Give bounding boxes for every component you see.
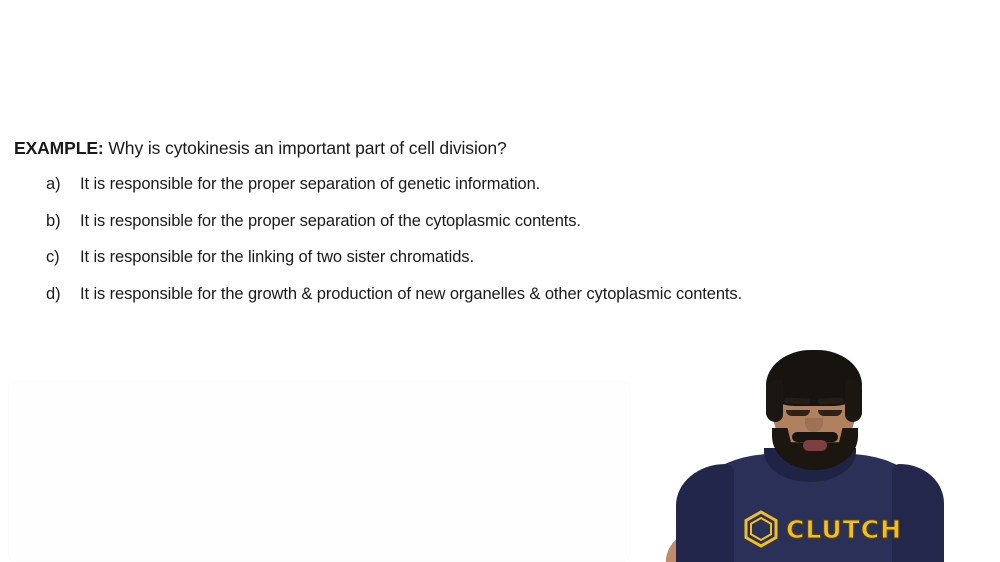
question-text: Why is cytokinesis an important part of … (108, 138, 506, 158)
option-text-c: It is responsible for the linking of two… (80, 245, 926, 269)
hexagon-icon (744, 510, 778, 548)
instructor-eye-left (786, 410, 810, 416)
example-label: EXAMPLE: (14, 138, 104, 158)
answer-option-c[interactable]: c) It is responsible for the linking of … (46, 245, 926, 282)
instructor-eyebrow-left (784, 397, 810, 404)
empty-content-panel (8, 381, 630, 562)
option-letter-c: c) (46, 245, 80, 269)
example-question-line: EXAMPLE: Why is cytokinesis an important… (14, 136, 914, 160)
clutch-logo-text: CLUTCH (786, 517, 902, 542)
option-letter-d: d) (46, 282, 80, 306)
instructor-mouth (803, 440, 827, 451)
answer-option-a[interactable]: a) It is responsible for the proper sepa… (46, 172, 926, 209)
instructor-video-overlay: CLUTCH (660, 336, 1000, 562)
answer-option-d[interactable]: d) It is responsible for the growth & pr… (46, 282, 926, 319)
answer-options-list: a) It is responsible for the proper sepa… (46, 172, 926, 318)
answer-option-b[interactable]: b) It is responsible for the proper sepa… (46, 209, 926, 246)
option-letter-a: a) (46, 172, 80, 196)
option-text-a: It is responsible for the proper separat… (80, 172, 926, 196)
option-text-d: It is responsible for the growth & produ… (80, 282, 926, 306)
option-text-b: It is responsible for the proper separat… (80, 209, 926, 233)
slide-canvas: EXAMPLE: Why is cytokinesis an important… (0, 0, 1000, 562)
shirt-shadow-left (676, 464, 734, 562)
clutch-brand-logo: CLUTCH (744, 510, 902, 548)
instructor-hair-side-left (766, 380, 783, 422)
instructor-eye-right (818, 410, 842, 416)
instructor-hair-side-right (845, 380, 862, 422)
option-letter-b: b) (46, 209, 80, 233)
question-block: EXAMPLE: Why is cytokinesis an important… (14, 136, 914, 160)
